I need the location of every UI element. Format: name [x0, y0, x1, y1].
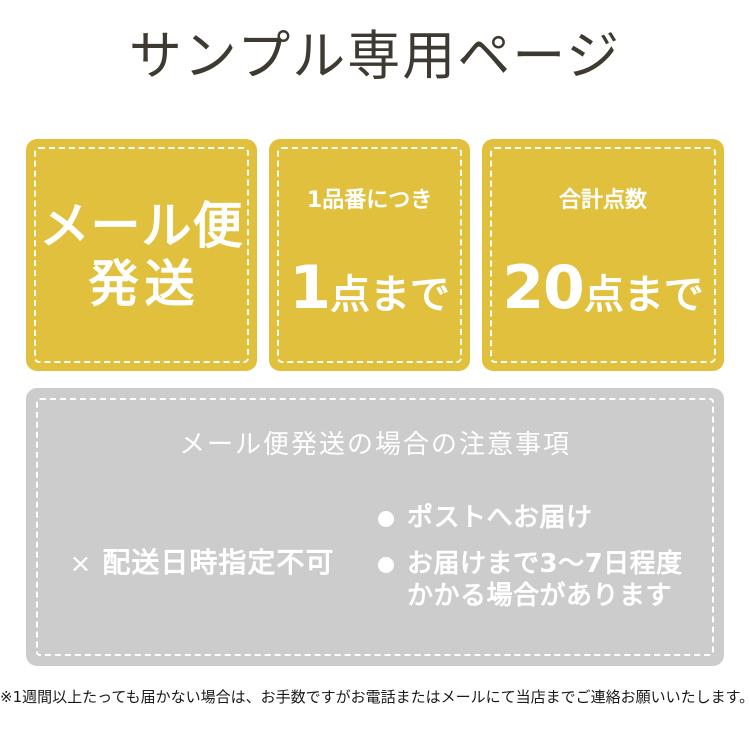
notice-panel: メール便発送の場合の注意事項 ×配送日時指定不可 ポストへお届け お届 — [26, 388, 724, 666]
notice-content-columns: ×配送日時指定不可 ポストへお届け お届けまで3〜7日程度 かかる場合があります — [26, 498, 724, 638]
bullet-dot-icon — [378, 557, 394, 573]
page-title: サンプル専用ページ — [0, 26, 750, 88]
card-total-limit-unit: 点まで — [584, 272, 704, 318]
card-per-item-limit-body: 1品番につき 1点まで — [269, 188, 470, 323]
card-total-limit-number: 20 — [502, 253, 584, 323]
notice-bullet-2-line1: お届けまで3〜7日程度 — [407, 549, 683, 579]
footer-note: ※1週間以上たっても届かない場合は、お手数ですがお電話またはメールにて当店までご… — [0, 686, 750, 708]
card-total-limit-body: 合計点数 20点まで — [482, 188, 724, 323]
card-per-item-limit-unit: 点まで — [330, 272, 450, 318]
card-shipping-method-body: メール便 発送 — [26, 197, 257, 313]
card-total-limit-value: 20点まで — [482, 260, 724, 323]
card-per-item-limit-caption: 1品番につき — [269, 188, 470, 214]
list-item: ポストへお届け — [378, 502, 724, 534]
notice-bullets-column: ポストへお届け お届けまで3〜7日程度 かかる場合があります — [378, 498, 724, 612]
notice-bullet-1-text: ポストへお届け — [407, 502, 593, 534]
list-item: お届けまで3〜7日程度 かかる場合があります — [378, 548, 724, 612]
notice-bullet-2-text: お届けまで3〜7日程度 かかる場合があります — [407, 548, 683, 612]
cross-mark-icon: × — [70, 549, 93, 579]
notice-restriction-column: ×配送日時指定不可 — [26, 498, 378, 628]
card-per-item-limit: 1品番につき 1点まで — [269, 139, 470, 371]
card-shipping-method-line1: メール便 — [26, 197, 257, 255]
notice-bullet-2-line2: かかる場合があります — [407, 580, 683, 612]
notice-restriction-text: 配送日時指定不可 — [102, 546, 334, 579]
sample-info-page: サンプル専用ページ メール便 発送 1品番につき 1点まで 合計点数 — [0, 0, 750, 750]
bullet-dot-icon — [378, 511, 394, 527]
card-per-item-limit-number: 1 — [289, 253, 330, 323]
notice-bullet-1-line1: ポストへお届け — [407, 503, 593, 533]
card-per-item-limit-value: 1点まで — [269, 260, 470, 323]
info-cards-row: メール便 発送 1品番につき 1点まで 合計点数 20点まで — [26, 139, 724, 371]
card-total-limit-caption: 合計点数 — [482, 188, 724, 214]
notice-heading: メール便発送の場合の注意事項 — [26, 429, 724, 461]
notice-restriction: ×配送日時指定不可 — [70, 546, 335, 581]
card-shipping-method-line2: 発送 — [26, 255, 257, 313]
card-total-limit: 合計点数 20点まで — [482, 139, 724, 371]
card-shipping-method: メール便 発送 — [26, 139, 257, 371]
